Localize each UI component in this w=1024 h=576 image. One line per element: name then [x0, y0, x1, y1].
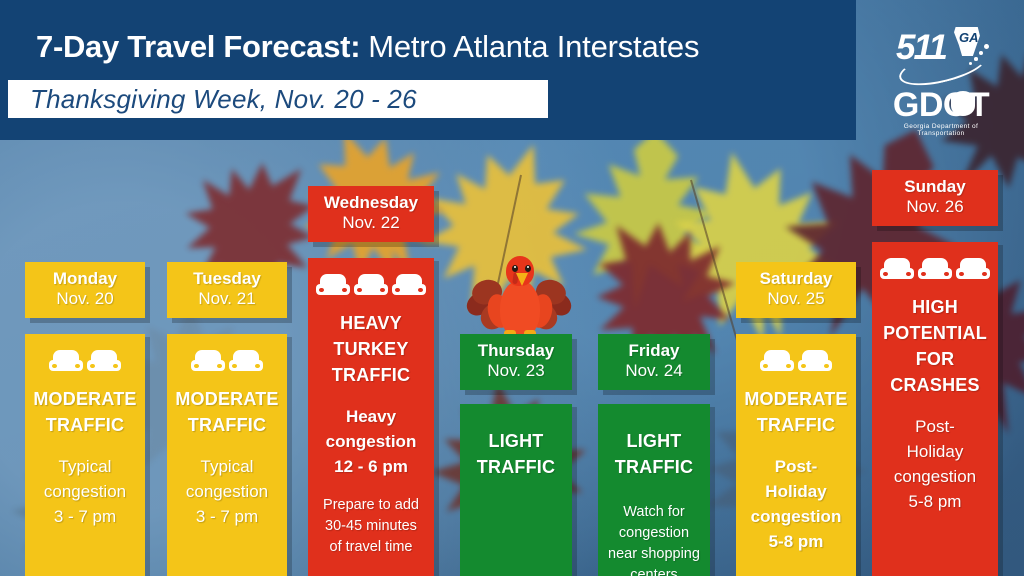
congestion-detail: Typical congestion 3 - 7 pm: [173, 454, 281, 529]
traffic-level-line: TRAFFIC: [31, 412, 139, 438]
congestion-detail: Heavy congestion 12 - 6 pm: [314, 404, 428, 479]
advice-line: 30-45 minutes: [314, 516, 428, 537]
day-header-friday: Friday Nov. 24: [598, 334, 710, 390]
car-icon: [191, 350, 225, 374]
congestion-detail: Post- Holiday congestion 5-8 pm: [878, 414, 992, 514]
traffic-level-line: TRAFFIC: [466, 454, 566, 480]
traffic-level-label: HIGH POTENTIAL FOR CRASHES: [878, 294, 992, 398]
car-icon: [49, 350, 83, 374]
day-body-saturday: MODERATE TRAFFIC Post- Holiday congestio…: [736, 334, 856, 576]
traffic-level-label: MODERATE TRAFFIC: [742, 386, 850, 438]
car-icon: [918, 258, 952, 282]
header-band: [0, 0, 856, 140]
traffic-level-line: FOR: [878, 346, 992, 372]
day-date: Nov. 21: [171, 288, 283, 309]
congestion-detail: Post- Holiday congestion 5-8 pm: [742, 454, 850, 554]
day-name: Sunday: [876, 177, 994, 196]
congestion-line: Holiday: [878, 439, 992, 464]
congestion-line: congestion: [314, 429, 428, 454]
day-header-thursday: Thursday Nov. 23: [460, 334, 572, 390]
turkey-beak: [516, 273, 528, 286]
turkey-illustration: [462, 254, 578, 346]
day-name: Wednesday: [312, 193, 430, 212]
day-body-monday: MODERATE TRAFFIC Typical congestion 3 - …: [25, 334, 145, 576]
car-icon: [956, 258, 990, 282]
day-name: Tuesday: [171, 269, 283, 288]
travel-advice-note: Prepare to add 30-45 minutes of travel t…: [314, 495, 428, 558]
congestion-line: congestion: [173, 479, 281, 504]
congestion-line: 5-8 pm: [742, 529, 850, 554]
day-header-saturday: Saturday Nov. 25: [736, 262, 856, 318]
traffic-level-label: LIGHT TRAFFIC: [604, 428, 704, 480]
congestion-line: Typical: [31, 454, 139, 479]
infographic-root: 7-Day Travel Forecast: Metro Atlanta Int…: [0, 0, 1024, 576]
car-icon: [392, 274, 426, 298]
day-body-wednesday: HEAVY TURKEY TRAFFIC Heavy congestion 12…: [308, 258, 434, 576]
two-cars-icon: [742, 350, 850, 374]
page-title-rest: Metro Atlanta Interstates: [368, 29, 699, 65]
car-icon: [229, 350, 263, 374]
day-date: Nov. 22: [312, 212, 430, 233]
congestion-line: congestion: [878, 464, 992, 489]
traffic-level-line: TRAFFIC: [604, 454, 704, 480]
three-cars-icon: [314, 274, 428, 298]
traffic-level-label: MODERATE TRAFFIC: [31, 386, 139, 438]
advice-line: congestion: [604, 523, 704, 544]
traffic-level-line: HIGH: [878, 294, 992, 320]
congestion-line: Holiday: [742, 479, 850, 504]
day-body-tuesday: MODERATE TRAFFIC Typical congestion 3 - …: [167, 334, 287, 576]
congestion-line: 12 - 6 pm: [314, 454, 428, 479]
congestion-line: 5-8 pm: [878, 489, 992, 514]
turkey-eye: [525, 265, 531, 272]
traffic-level-line: MODERATE: [742, 386, 850, 412]
advice-line: Watch for: [604, 502, 704, 523]
subtitle-text: Thanksgiving Week, Nov. 20 - 26: [8, 84, 417, 115]
day-header-tuesday: Tuesday Nov. 21: [167, 262, 287, 318]
day-date: Nov. 25: [740, 288, 852, 309]
car-icon: [798, 350, 832, 374]
three-cars-icon: [878, 258, 992, 282]
congestion-line: 3 - 7 pm: [173, 504, 281, 529]
page-title: 7-Day Travel Forecast: Metro Atlanta Int…: [36, 29, 699, 65]
page-title-strong: 7-Day Travel Forecast:: [36, 29, 360, 65]
advice-line: Prepare to add: [314, 495, 428, 516]
gdot-peach-icon: [951, 96, 975, 116]
traffic-level-line: HEAVY: [314, 310, 428, 336]
traffic-level-line: TRAFFIC: [742, 412, 850, 438]
gdot-logo: GDOT Georgia Department of Transportatio…: [881, 88, 1001, 134]
day-date: Nov. 23: [464, 360, 568, 381]
day-body-thursday: LIGHT TRAFFIC: [460, 404, 572, 576]
traffic-level-line: LIGHT: [604, 428, 704, 454]
turkey-eye: [512, 265, 518, 272]
traffic-level-line: CRASHES: [878, 372, 992, 398]
two-cars-icon: [173, 350, 281, 374]
congestion-line: Heavy: [314, 404, 428, 429]
traffic-level-label: MODERATE TRAFFIC: [173, 386, 281, 438]
day-header-monday: Monday Nov. 20: [25, 262, 145, 318]
car-icon: [354, 274, 388, 298]
traffic-level-label: LIGHT TRAFFIC: [466, 428, 566, 480]
traffic-level-line: MODERATE: [31, 386, 139, 412]
day-name: Saturday: [740, 269, 852, 288]
car-icon: [880, 258, 914, 282]
day-name: Friday: [602, 341, 706, 360]
congestion-line: Post-: [742, 454, 850, 479]
day-date: Nov. 24: [602, 360, 706, 381]
day-date: Nov. 20: [29, 288, 141, 309]
congestion-line: congestion: [742, 504, 850, 529]
congestion-line: Post-: [878, 414, 992, 439]
511-ga-logo: 511 GA: [896, 30, 992, 76]
gdot-tagline: Georgia Department of Transportation: [881, 123, 1001, 137]
car-icon: [87, 350, 121, 374]
traffic-level-line: POTENTIAL: [878, 320, 992, 346]
day-body-sunday: HIGH POTENTIAL FOR CRASHES Post- Holiday…: [872, 242, 998, 576]
advice-line: near shopping: [604, 544, 704, 565]
advice-line: centers: [604, 565, 704, 576]
traffic-level-line: MODERATE: [173, 386, 281, 412]
traffic-level-line: TRAFFIC: [173, 412, 281, 438]
traffic-level-line: TURKEY: [314, 336, 428, 362]
congestion-detail: Typical congestion 3 - 7 pm: [31, 454, 139, 529]
day-header-wednesday: Wednesday Nov. 22: [308, 186, 434, 242]
traffic-level-line: LIGHT: [466, 428, 566, 454]
gdot-wordmark: GDOT: [893, 88, 989, 122]
congestion-line: Typical: [173, 454, 281, 479]
congestion-line: 3 - 7 pm: [31, 504, 139, 529]
day-date: Nov. 26: [876, 196, 994, 217]
car-icon: [316, 274, 350, 298]
travel-advice-note: Watch for congestion near shopping cente…: [604, 502, 704, 576]
traffic-level-label: HEAVY TURKEY TRAFFIC: [314, 310, 428, 388]
511-dots-icon: [968, 42, 992, 68]
day-body-friday: LIGHT TRAFFIC Watch for congestion near …: [598, 404, 710, 576]
two-cars-icon: [31, 350, 139, 374]
car-icon: [760, 350, 794, 374]
day-name: Thursday: [464, 341, 568, 360]
day-header-sunday: Sunday Nov. 26: [872, 170, 998, 226]
congestion-line: congestion: [31, 479, 139, 504]
advice-line: of travel time: [314, 537, 428, 558]
subtitle-band: Thanksgiving Week, Nov. 20 - 26: [8, 80, 548, 118]
day-name: Monday: [29, 269, 141, 288]
traffic-level-line: TRAFFIC: [314, 362, 428, 388]
